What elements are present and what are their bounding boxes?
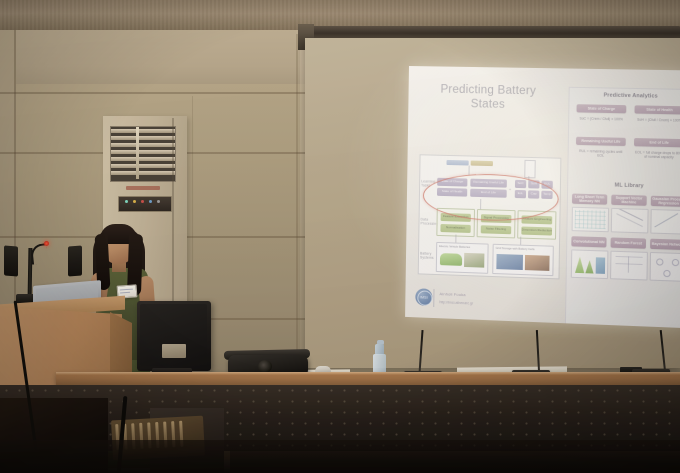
slide-right-panel: Predictive Analytics State of Charge SoC…	[564, 87, 680, 328]
air-conditioner-brand-strip	[126, 186, 160, 190]
bayes-node	[672, 259, 679, 266]
ml-thumb-gpr	[650, 209, 680, 235]
card-title-end-of-life: End of Life	[634, 138, 680, 147]
card-formula-state-of-charge: SoC = (Crem / Cfull) × 100%	[576, 116, 626, 122]
ml-thumb-cnn	[571, 249, 609, 279]
podium-speaker-left	[4, 245, 18, 276]
rf-branch	[616, 256, 643, 258]
foreground-floor-shadow	[0, 440, 680, 473]
ml-library-heading: ML Library	[568, 181, 680, 190]
ml-thumb-bayesian	[650, 252, 680, 282]
microphone-status-led	[44, 241, 49, 246]
footer-divider	[433, 289, 434, 307]
electric-car-photo	[440, 253, 462, 266]
air-conditioner-control-panel[interactable]	[118, 196, 172, 212]
card-formula-state-of-health: SoH = (Cfull / Cnom) × 100%	[634, 118, 680, 124]
presentation-photo-scene: Predicting Battery States Learning Tasks…	[0, 0, 680, 473]
card-formula-end-of-life: EOL = full charge drops to 80% of nomina…	[634, 150, 680, 160]
predictive-analytics-heading: Predictive Analytics	[570, 92, 680, 100]
slide-url: http://imsi.athenarc.gr	[439, 300, 530, 308]
diagram-row-label-2: Battery Systems	[420, 251, 434, 259]
battery-photo	[464, 253, 484, 268]
diagram-green-box: Normalisation	[440, 224, 470, 233]
bayes-node	[663, 270, 670, 277]
grid-storage-photo	[496, 254, 523, 270]
diagram-row-label-1: Data Processing	[420, 217, 434, 225]
ml-card-gpr: Gaussian Process Regression	[651, 196, 680, 207]
rf-trunk	[628, 256, 629, 272]
ml-card-cnn: Convolutional NN	[571, 236, 606, 247]
ml-thumb-random-forest	[610, 251, 648, 281]
diagram-image-card: Electric Vehicle Batteries	[436, 242, 489, 274]
slide-title: Predicting Battery States	[422, 82, 554, 113]
diagram-side-box	[524, 160, 536, 178]
diagram-connector	[520, 237, 521, 245]
diagram-connector	[455, 235, 456, 243]
diagram-image-caption: Grid Storage with Battery Cells	[496, 246, 535, 251]
projected-slide: Predicting Battery States Learning Tasks…	[405, 66, 680, 328]
diagram-image-card: Grid Storage with Battery Cells	[492, 244, 554, 276]
gpr-curve	[654, 213, 678, 227]
svm-margin	[616, 213, 642, 226]
desk-edge-highlight	[56, 372, 680, 375]
lstm-diagram	[575, 210, 606, 229]
desk-monitor-sticker	[162, 344, 186, 358]
diagram-input-box	[446, 160, 468, 166]
cnn-shape	[596, 257, 606, 274]
logo-ring	[417, 290, 432, 306]
air-conditioner-louver-divider	[136, 127, 139, 179]
card-formula-remaining-useful-life: RUL = remaining cycles until EOL	[576, 149, 626, 159]
diagram-image-caption: Electric Vehicle Batteries	[439, 244, 470, 249]
cnn-shape	[575, 257, 585, 274]
diagram-green-box: Dimension Reduction	[521, 226, 552, 235]
card-title-state-of-charge: State of Charge	[577, 104, 627, 113]
diagram-input-box	[471, 161, 493, 167]
battery-pack-photo	[525, 255, 550, 271]
podium-speaker-right	[68, 246, 82, 277]
card-title-state-of-health: State of Health	[635, 105, 680, 114]
wall-vertical-seam	[296, 34, 298, 364]
bayes-node	[656, 258, 663, 265]
cnn-shape	[585, 260, 593, 274]
air-conditioner-grille	[110, 126, 176, 182]
card-title-remaining-useful-life: Remaining Useful Life	[576, 137, 626, 146]
diagram-green-box: Noise Filtering	[481, 225, 512, 234]
ml-card-lstm: Long Short Term Memory NN	[572, 194, 607, 205]
slide-author: Ainholi Fouka	[439, 291, 530, 299]
ml-thumb-svm	[611, 208, 649, 234]
ml-thumb-lstm	[572, 207, 610, 233]
ml-card-random-forest: Random Forest	[611, 237, 647, 248]
ml-card-bayesian-network: Bayesian Network	[650, 239, 680, 250]
ml-card-svm: Support Vector Machine	[611, 195, 647, 206]
air-conditioner-seam	[172, 118, 174, 306]
